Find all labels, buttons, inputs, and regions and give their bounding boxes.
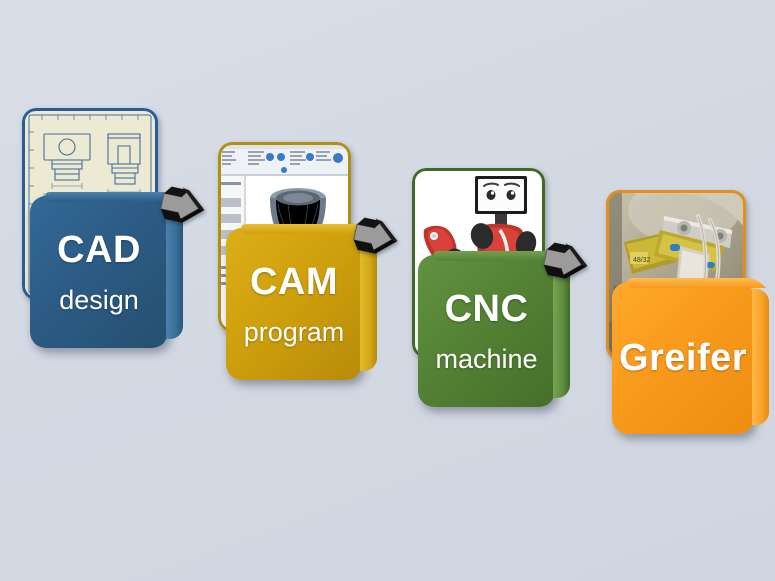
arrow-cam-cnc: [345, 207, 403, 265]
cam-title: CAM: [250, 263, 338, 301]
cam-subtitle: program: [244, 319, 345, 346]
cad-title: CAD: [57, 231, 141, 269]
greifer-block-top-face: [622, 278, 766, 288]
diagram-canvas: CAD design: [0, 0, 775, 581]
arrow-cad-cam: [152, 176, 210, 234]
cad-block[interactable]: CAD design: [30, 196, 168, 348]
greifer-title: Greifer: [619, 339, 747, 377]
cad-subtitle: design: [59, 287, 139, 314]
cam-block[interactable]: CAM program: [226, 228, 362, 380]
cnc-subtitle: machine: [435, 346, 537, 373]
arrow-cnc-greifer: [535, 232, 593, 290]
svg-text:48/32: 48/32: [633, 257, 651, 264]
greifer-block-side-face: [752, 289, 769, 425]
greifer-block[interactable]: Greifer: [612, 282, 754, 434]
cnc-title: CNC: [445, 290, 529, 328]
